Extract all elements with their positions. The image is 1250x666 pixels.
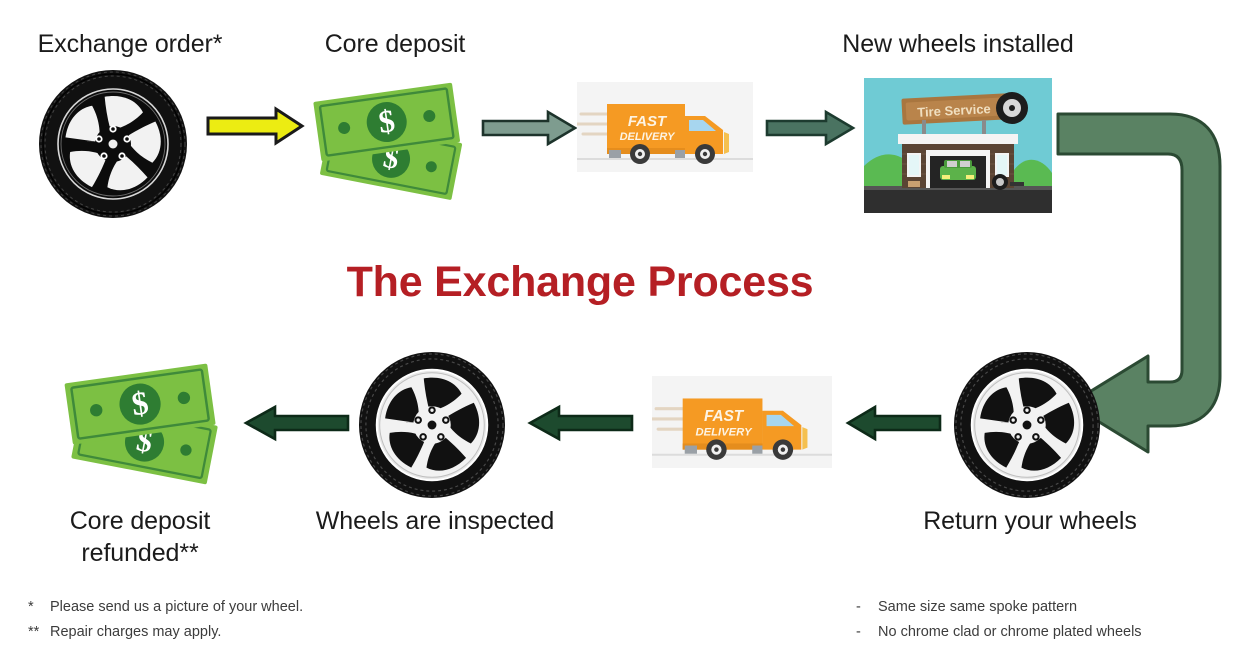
truck-text-line1: FAST — [704, 408, 745, 425]
note-right-1: - Same size same spoke pattern — [856, 595, 1142, 620]
delivery-truck-icon-inbound: FAST DELIVERY — [652, 367, 832, 477]
arrow-return-to-truck — [845, 405, 941, 441]
label-wheels-are-inspected: Wheels are inspected — [290, 505, 580, 537]
wheel-silver-icon-return — [953, 351, 1101, 499]
notes-left: * Please send us a picture of your wheel… — [28, 595, 303, 645]
label-return-your-wheels: Return your wheels — [890, 505, 1170, 537]
exchange-process-diagram: Exchange order* Core deposit New wheels … — [0, 0, 1250, 666]
note-mark: - — [856, 595, 878, 620]
note-mark: - — [856, 620, 878, 645]
note-text: No chrome clad or chrome plated wheels — [878, 620, 1142, 645]
label-core-deposit: Core deposit — [270, 28, 520, 60]
delivery-truck-icon-outbound: FAST DELIVERY — [577, 82, 753, 172]
note-mark: ** — [28, 620, 50, 645]
money-bills-icon-bottom: $ $ — [58, 352, 233, 487]
tire-service-shop-icon: Tire Service — [864, 78, 1052, 213]
wheel-black-icon — [38, 69, 188, 219]
page-title: The Exchange Process — [0, 258, 1160, 307]
notes-right: - Same size same spoke pattern - No chro… — [856, 595, 1142, 645]
wheel-silver-icon-inspected — [358, 351, 506, 499]
label-new-wheels-installed: New wheels installed — [808, 28, 1108, 60]
truck-text-line1: FAST — [628, 113, 668, 130]
label-exchange-order: Exchange order* — [0, 28, 260, 60]
note-left-1: * Please send us a picture of your wheel… — [28, 595, 303, 620]
arrow-order-to-deposit — [206, 106, 306, 146]
truck-text-line2: DELIVERY — [696, 426, 754, 438]
note-text: Repair charges may apply. — [50, 620, 221, 645]
arrow-truck-to-inspect — [527, 405, 633, 441]
arrow-deposit-to-truck — [482, 110, 578, 146]
note-text: Please send us a picture of your wheel. — [50, 595, 303, 620]
note-right-2: - No chrome clad or chrome plated wheels — [856, 620, 1142, 645]
note-mark: * — [28, 595, 50, 620]
truck-text-line2: DELIVERY — [620, 131, 676, 143]
label-core-deposit-refunded: Core deposit refunded** — [20, 505, 260, 569]
money-bills-icon-top: $ $ — [307, 72, 477, 202]
note-left-2: ** Repair charges may apply. — [28, 620, 303, 645]
note-text: Same size same spoke pattern — [878, 595, 1077, 620]
arrow-truck-to-shop — [766, 110, 856, 146]
arrow-inspect-to-refund — [243, 405, 349, 441]
